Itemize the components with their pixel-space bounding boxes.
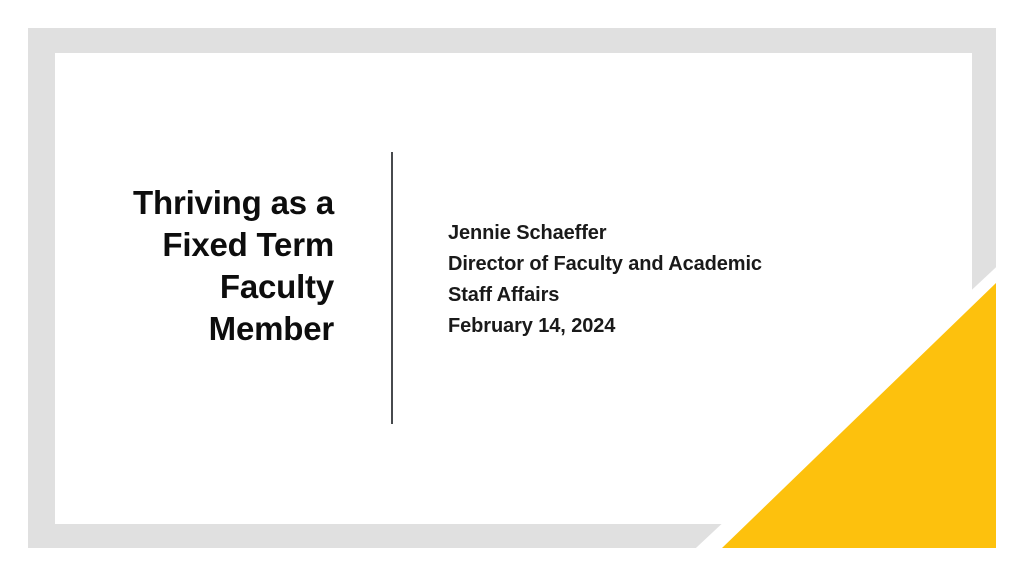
presenter-role-line-2: Staff Affairs	[448, 280, 868, 311]
presenter-role-line-1: Director of Faculty and Academic	[448, 249, 868, 280]
title-slide: Thriving as a Fixed Term Faculty Member …	[0, 0, 1024, 576]
presenter-info-block: Jennie Schaeffer Director of Faculty and…	[448, 218, 868, 342]
title-line-2: Fixed Term	[60, 224, 334, 266]
slide-content: Thriving as a Fixed Term Faculty Member …	[0, 0, 1024, 576]
title-line-1: Thriving as a	[60, 182, 334, 224]
presentation-date: February 14, 2024	[448, 311, 868, 342]
title-line-3: Faculty	[60, 266, 334, 308]
vertical-divider-line	[391, 152, 393, 424]
title-line-4: Member	[60, 308, 334, 350]
slide-title: Thriving as a Fixed Term Faculty Member	[60, 182, 334, 350]
presenter-name: Jennie Schaeffer	[448, 218, 868, 249]
